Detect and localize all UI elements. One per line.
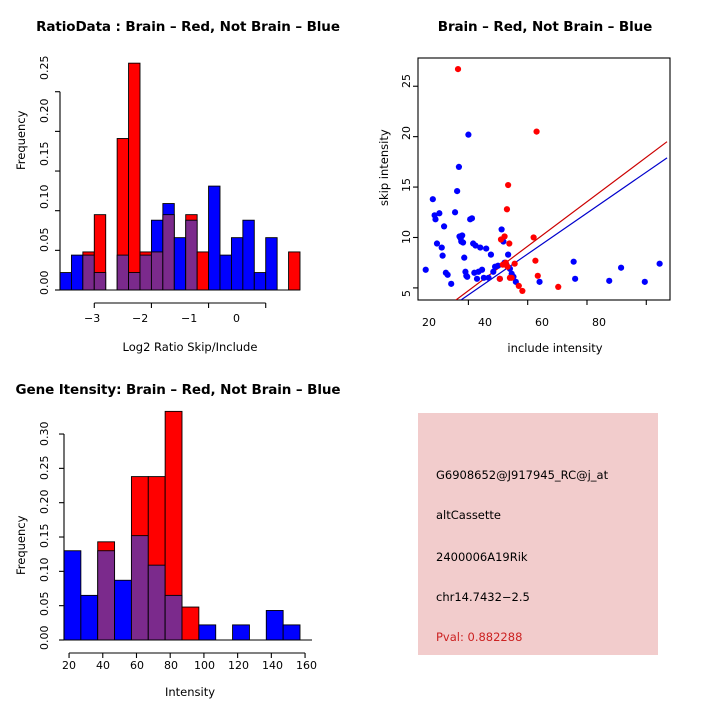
panel-info: G6908652@J917945_RC@j_at altCassette 240… bbox=[360, 360, 720, 720]
panel-scatter-plot-area bbox=[360, 0, 720, 360]
info-pval: Pval: 0.882288 bbox=[436, 630, 522, 644]
panel-gene-plot-area bbox=[0, 360, 360, 720]
info-location: chr14.7432−2.5 bbox=[436, 590, 530, 604]
info-gene-symbol: 2400006A19Rik bbox=[436, 550, 528, 564]
panel-ratio-histogram: RatioData : Brain – Red, Not Brain – Blu… bbox=[0, 0, 360, 360]
panel-ratio-plot-area bbox=[0, 0, 360, 360]
panel-gene-histogram: Gene Itensity: Brain – Red, Not Brain – … bbox=[0, 360, 360, 720]
info-probe-id: G6908652@J917945_RC@j_at bbox=[436, 468, 608, 482]
panel-scatter: Brain – Red, Not Brain – Blue skip inten… bbox=[360, 0, 720, 360]
info-background bbox=[418, 413, 658, 655]
plot-canvas: RatioData : Brain – Red, Not Brain – Blu… bbox=[0, 0, 720, 720]
info-event-type: altCassette bbox=[436, 508, 501, 522]
